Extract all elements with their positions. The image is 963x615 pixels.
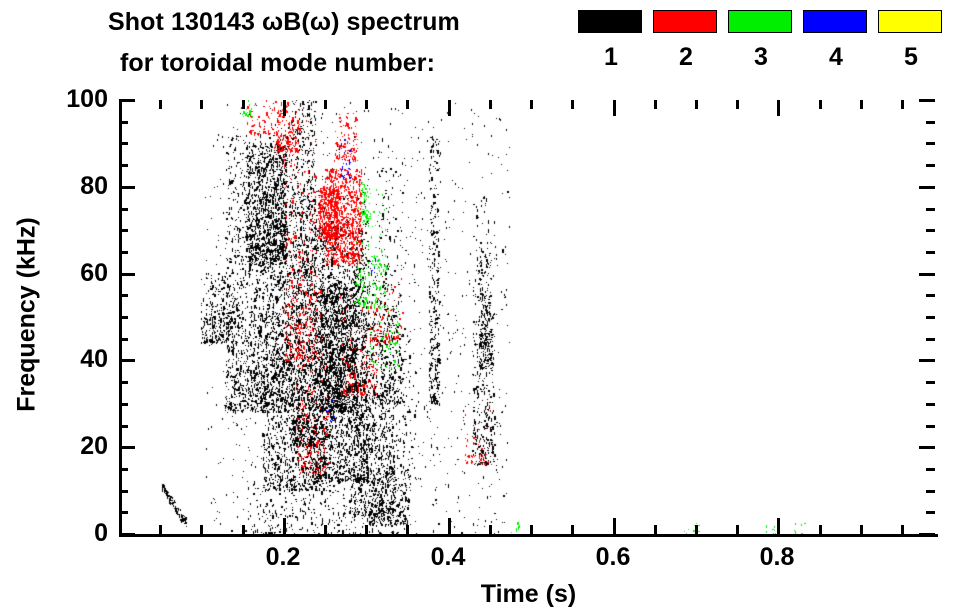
x-minor-tick [819,525,822,534]
x-minor-tick [406,525,409,534]
legend-swatch-mode-n3 [728,10,792,33]
y-minor-tick-right [926,338,935,341]
x-minor-tick [695,525,698,534]
figure-title-line-1: Shot 130143 ωB(ω) spectrum [108,8,460,37]
y-minor-tick-right [926,468,935,471]
legend-label-mode-n4: 4 [803,44,869,70]
x-tick-label-0.4: 0.4 [398,545,498,570]
x-minor-tick [200,525,203,534]
legend-label-mode-n5: 5 [878,44,944,70]
y-axis-title: Frequency (kHz) [13,135,42,495]
x-minor-tick [654,525,657,534]
x-minor-tick [736,525,739,534]
x-tick-label-0.8: 0.8 [727,545,827,570]
x-major-tick-top-0.2 [283,100,286,116]
x-minor-tick-top [819,100,822,109]
x-minor-tick [571,525,574,534]
y-tick-label-0: 0 [8,521,108,546]
x-minor-tick-top [695,100,698,109]
x-minor-tick [365,525,368,534]
y-minor-tick-right [926,164,935,167]
y-minor-tick [119,316,128,319]
y-major-tick-60 [119,273,135,276]
x-major-tick-0.6 [613,518,616,534]
y-major-tick-80 [119,186,135,189]
x-minor-tick-top [654,100,657,109]
y-minor-tick [119,251,128,254]
x-minor-tick [242,525,245,534]
x-minor-tick [530,525,533,534]
y-tick-label-100: 100 [8,87,108,112]
x-major-tick-top-0.4 [448,100,451,116]
y-minor-tick-right [926,208,935,211]
x-minor-tick-top [571,100,574,109]
x-minor-tick-top [324,100,327,109]
y-minor-tick-right [926,251,935,254]
figure-title-line-2: for toroidal mode number: [120,49,435,78]
x-minor-tick-top [406,100,409,109]
y-major-tick-right-20 [919,446,935,449]
x-minor-tick-top [242,100,245,109]
x-tick-label-0.2: 0.2 [233,545,333,570]
x-minor-tick [901,525,904,534]
legend-item-mode-n5[interactable]: 5 [878,10,944,70]
legend-swatch-mode-n1 [578,10,642,33]
legend-label-mode-n2: 2 [653,44,719,70]
y-minor-tick-right [926,142,935,145]
y-minor-tick [119,142,128,145]
y-minor-tick [119,403,128,406]
mode-number-legend: 12345 [578,10,953,90]
y-minor-tick-right [926,316,935,319]
y-minor-tick [119,229,128,232]
x-minor-tick [489,525,492,534]
y-minor-tick-right [926,403,935,406]
x-minor-tick-top [860,100,863,109]
x-major-tick-0.2 [283,518,286,534]
spectrogram-figure: Shot 130143 ωB(ω) spectrum for toroidal … [0,0,963,615]
y-minor-tick-right [926,229,935,232]
plot-area [119,100,938,537]
legend-item-mode-n2[interactable]: 2 [653,10,719,70]
y-minor-tick [119,338,128,341]
y-minor-tick-right [926,490,935,493]
x-major-tick-top-0.6 [613,100,616,116]
x-minor-tick-top [489,100,492,109]
y-minor-tick [119,208,128,211]
x-minor-tick-top [530,100,533,109]
x-axis-title: Time (s) [119,580,938,609]
x-minor-tick-top [365,100,368,109]
y-major-tick-right-80 [919,186,935,189]
y-major-tick-40 [119,359,135,362]
x-minor-tick [860,525,863,534]
legend-item-mode-n3[interactable]: 3 [728,10,794,70]
x-minor-tick-top [159,100,162,109]
y-minor-tick-right [926,294,935,297]
y-major-tick-right-0 [919,533,935,536]
x-minor-tick-top [200,100,203,109]
legend-swatch-mode-n4 [803,10,867,33]
y-minor-tick-right [926,121,935,124]
y-major-tick-right-100 [919,99,935,102]
x-major-tick-0.4 [448,518,451,534]
legend-swatch-mode-n5 [878,10,942,33]
y-minor-tick [119,381,128,384]
y-minor-tick [119,164,128,167]
y-minor-tick-right [926,425,935,428]
y-minor-tick [119,121,128,124]
y-major-tick-20 [119,446,135,449]
y-minor-tick [119,294,128,297]
x-major-tick-0.8 [777,518,780,534]
spectrogram-canvas [122,100,938,534]
y-major-tick-right-60 [919,273,935,276]
x-minor-tick-top [736,100,739,109]
x-minor-tick [324,525,327,534]
x-major-tick-top-0.8 [777,100,780,116]
y-minor-tick-right [926,381,935,384]
y-minor-tick [119,468,128,471]
y-minor-tick [119,511,128,514]
legend-swatch-mode-n2 [653,10,717,33]
y-minor-tick-right [926,511,935,514]
y-minor-tick [119,490,128,493]
legend-item-mode-n1[interactable]: 1 [578,10,644,70]
y-major-tick-right-40 [919,359,935,362]
legend-label-mode-n1: 1 [578,44,644,70]
y-major-tick-100 [119,99,135,102]
legend-item-mode-n4[interactable]: 4 [803,10,869,70]
legend-label-mode-n3: 3 [728,44,794,70]
y-minor-tick [119,425,128,428]
x-minor-tick [159,525,162,534]
y-major-tick-0 [119,533,135,536]
x-minor-tick-top [901,100,904,109]
x-tick-label-0.6: 0.6 [563,545,663,570]
